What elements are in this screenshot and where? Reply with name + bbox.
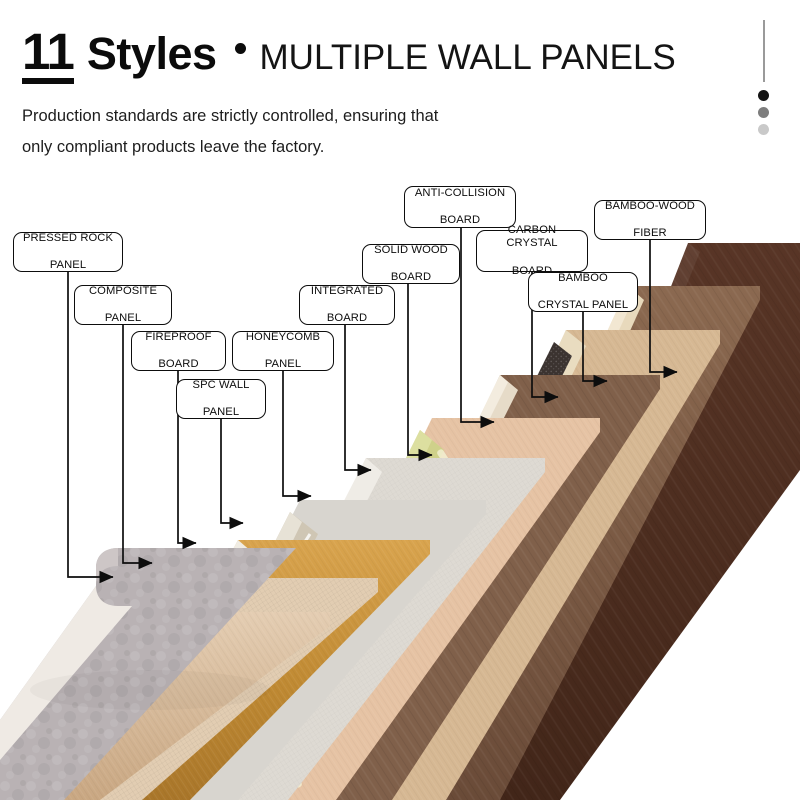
callout-fireproof-board[interactable]: FIREPROOFBOARD — [131, 331, 226, 371]
callout-line-1: COMPOSITE — [89, 285, 157, 299]
callout-composite-panel[interactable]: COMPOSITEPANEL — [74, 285, 172, 325]
callout-honeycomb-panel[interactable]: HONEYCOMBPANEL — [232, 331, 334, 371]
callout-line-1: HONEYCOMB — [246, 331, 320, 345]
callout-line-1: INTEGRATED — [311, 285, 383, 299]
callout-line-1: SOLID WOOD — [374, 244, 448, 258]
callout-spc-wall-panel[interactable]: SPC WALLPANEL — [176, 379, 266, 419]
panel-stack-svg — [0, 0, 800, 800]
infographic-canvas: 11 Styles MULTIPLE WALL PANELS Productio… — [0, 0, 800, 800]
callout-anti-collision-board[interactable]: ANTI-COLLISIONBOARD — [404, 186, 516, 228]
callout-carbon-crystal-board[interactable]: CARBON CRYSTALBOARD — [476, 230, 588, 272]
callout-line-2: PANEL — [246, 358, 320, 372]
callout-line-2: PANEL — [89, 312, 157, 326]
callout-line-2: BOARD — [374, 271, 448, 285]
callout-pressed-rock-panel[interactable]: PRESSED ROCKPANEL — [13, 232, 123, 272]
callout-line-1: ANTI-COLLISION — [415, 187, 505, 201]
callout-line-2: BOARD — [311, 312, 383, 326]
callout-bamboo-wood-fiber[interactable]: BAMBOO-WOODFIBER — [594, 200, 706, 240]
callout-line-2: BOARD — [145, 358, 211, 372]
callout-line-2: FIBER — [605, 227, 695, 241]
callout-line-1: FIREPROOF — [145, 331, 211, 345]
callout-bamboo-crystal-panel[interactable]: BAMBOOCRYSTAL PANEL — [528, 272, 638, 312]
callout-line-1: SPC WALL — [193, 379, 250, 393]
callout-line-1: PRESSED ROCK — [23, 232, 113, 246]
callout-line-2: CRYSTAL PANEL — [538, 299, 628, 313]
callout-line-1: CARBON CRYSTAL — [482, 224, 582, 251]
callout-line-2: PANEL — [23, 259, 113, 273]
callout-line-1: BAMBOO — [538, 272, 628, 286]
callout-line-2: PANEL — [193, 406, 250, 420]
wall-panel-stack-illustration — [0, 0, 800, 800]
callout-line-1: BAMBOO-WOOD — [605, 200, 695, 214]
callout-integrated-board[interactable]: INTEGRATEDBOARD — [299, 285, 395, 325]
callout-solid-wood-board[interactable]: SOLID WOODBOARD — [362, 244, 460, 284]
